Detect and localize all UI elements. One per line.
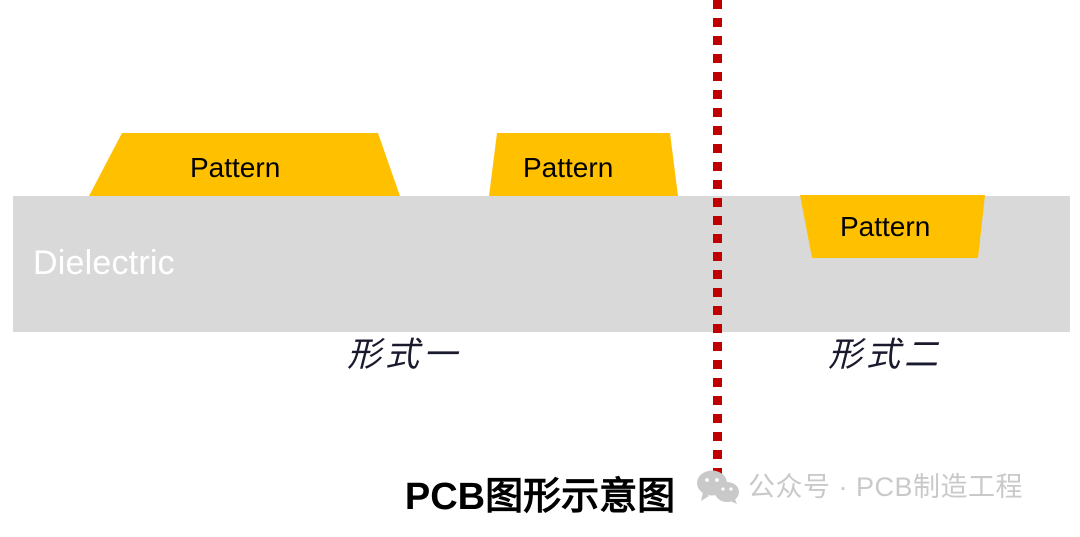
wechat-icon (697, 470, 739, 504)
form-caption-left: 形式一 (347, 336, 461, 376)
watermark: 公众号 · PCB制造工程 (697, 470, 1023, 504)
dielectric-label: Dielectric (33, 243, 175, 283)
pattern-trace-3-label: Pattern (840, 211, 930, 243)
diagram-title-cjk: 图形示意图 (485, 476, 675, 518)
diagram-title-latin: PCB (405, 476, 485, 518)
diagram-canvas: Dielectric Pattern Pattern Pattern 形式一 形… (0, 0, 1080, 537)
watermark-text: 公众号 · PCB制造工程 (748, 471, 1023, 503)
pattern-trace-2-label: Pattern (523, 152, 613, 184)
pattern-trace-1-label: Pattern (190, 152, 280, 184)
form-caption-right: 形式二 (828, 336, 942, 376)
form-divider (713, 0, 722, 481)
